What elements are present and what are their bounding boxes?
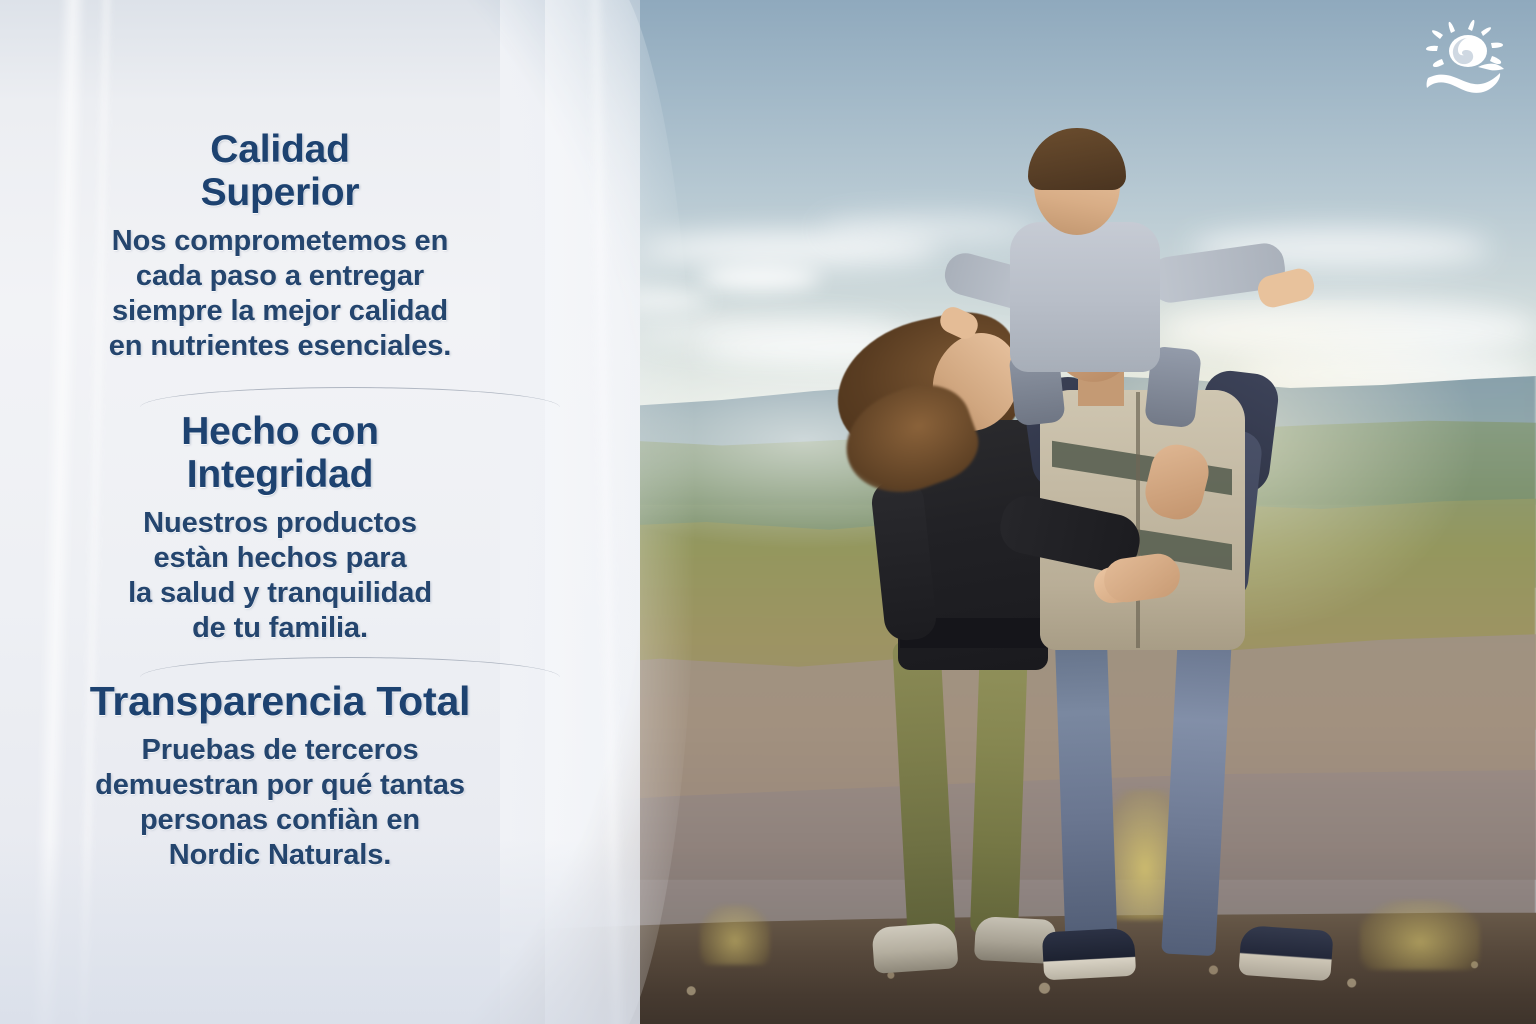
father-jacket-zipper bbox=[1136, 392, 1140, 648]
section-divider bbox=[140, 655, 560, 677]
mother-leg-right bbox=[970, 639, 1028, 935]
block-body-integrity: Nuestros productosestàn hechos parala sa… bbox=[20, 506, 540, 646]
block-heading-transparency: Transparencia Total bbox=[20, 680, 540, 723]
shrub bbox=[700, 905, 770, 965]
block-heading-quality: CalidadSuperior bbox=[20, 128, 540, 214]
value-block-transparency: Transparencia Total Pruebas de tercerosd… bbox=[20, 680, 540, 873]
shrub bbox=[1360, 900, 1480, 970]
value-block-integrity: Hecho conIntegridad Nuestros productoses… bbox=[20, 410, 540, 646]
father-shoe-left bbox=[1042, 928, 1136, 981]
cloud bbox=[820, 216, 1040, 242]
block-body-quality: Nos comprometemos encada paso a entregar… bbox=[20, 224, 540, 364]
father-shoe-right bbox=[1238, 925, 1333, 981]
child-sweater bbox=[1010, 222, 1160, 372]
advertisement-canvas: CalidadSuperior Nos comprometemos encada… bbox=[0, 0, 1536, 1024]
cloud bbox=[700, 265, 820, 291]
mother-shoe-left bbox=[871, 922, 958, 974]
block-heading-integrity: Hecho conIntegridad bbox=[20, 410, 540, 496]
value-block-quality: CalidadSuperior Nos comprometemos encada… bbox=[20, 128, 540, 364]
section-divider bbox=[140, 385, 560, 407]
sun-over-wave-logo-icon bbox=[1420, 18, 1516, 108]
block-body-transparency: Pruebas de tercerosdemuestran por qué ta… bbox=[20, 733, 540, 873]
value-propositions: CalidadSuperior Nos comprometemos encada… bbox=[0, 0, 600, 1024]
